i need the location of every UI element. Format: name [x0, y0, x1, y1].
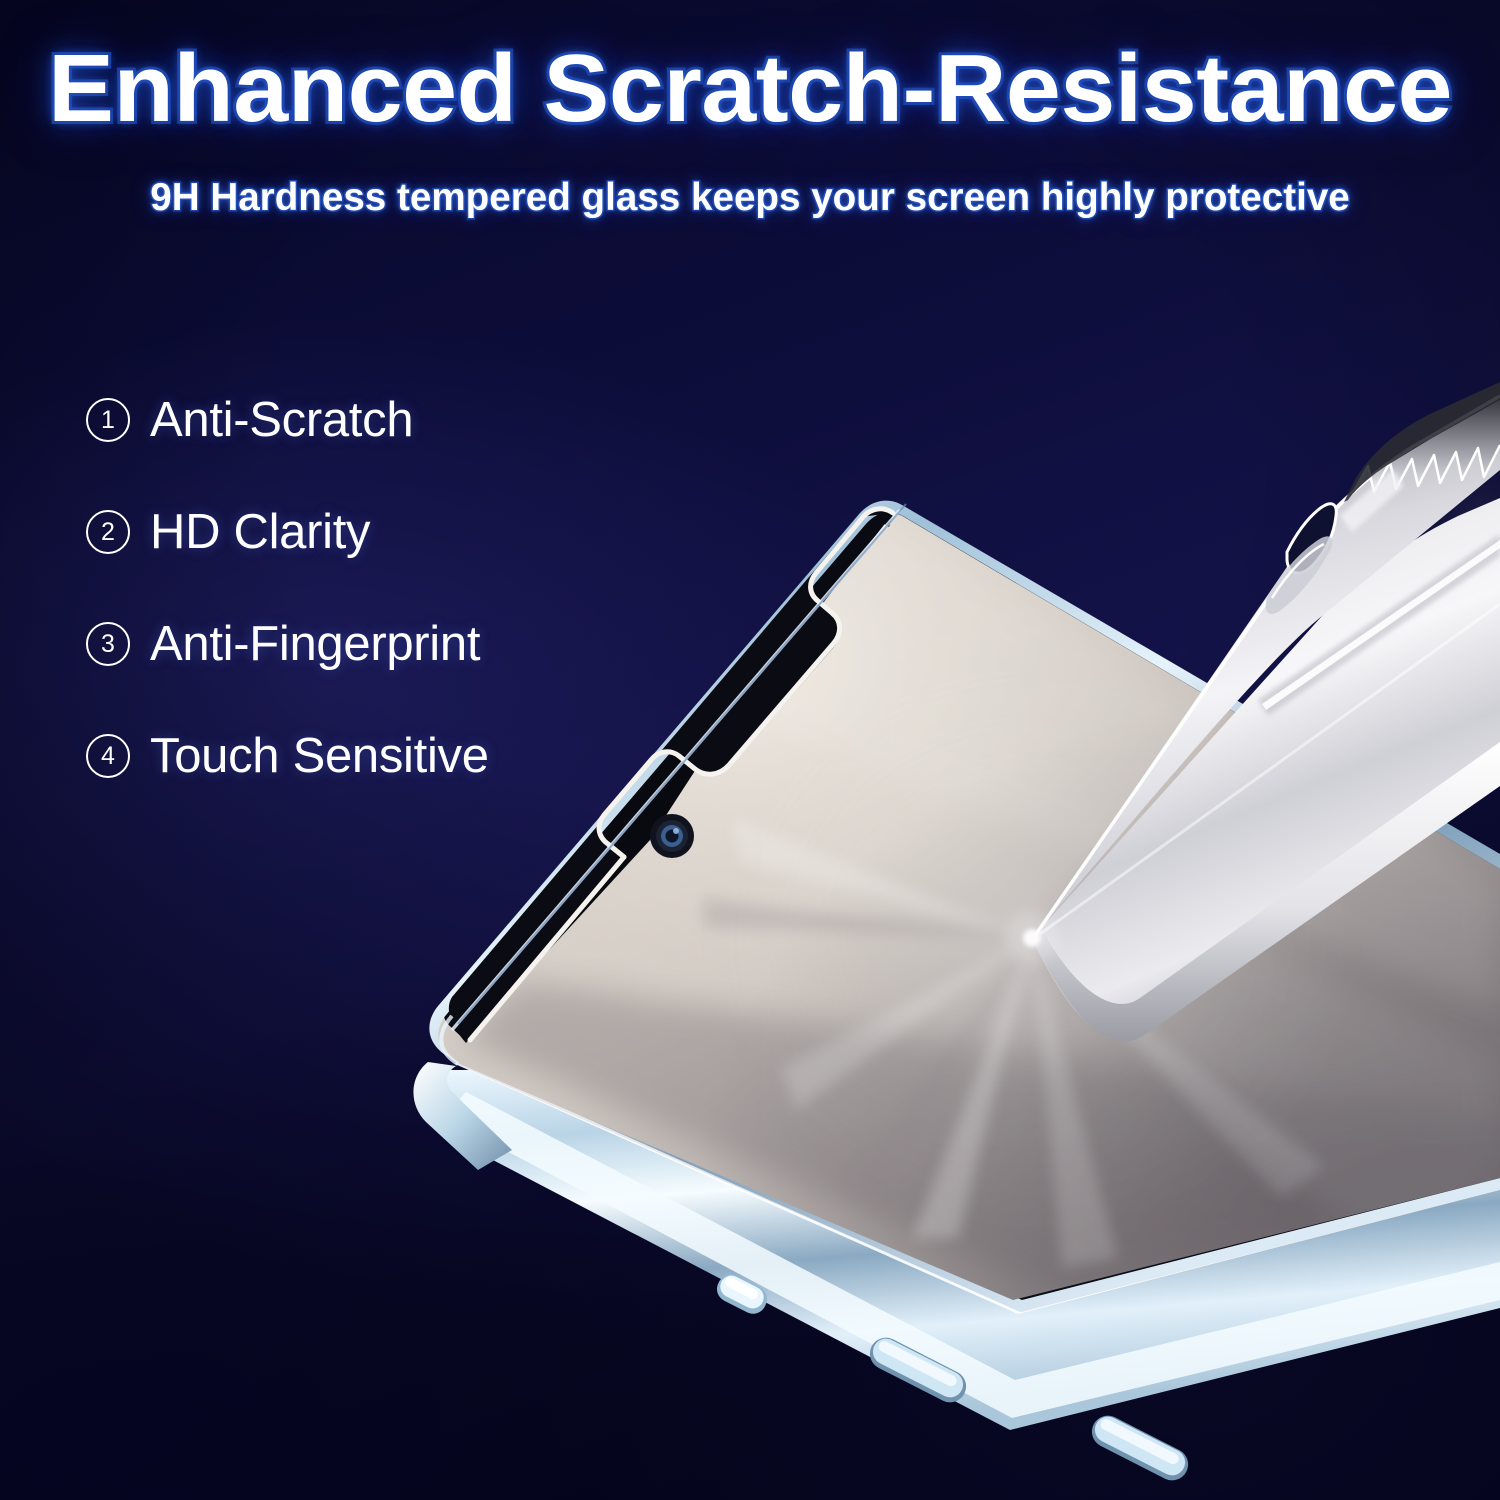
feature-number-badge: 2 — [86, 510, 130, 554]
feature-number-badge: 1 — [86, 398, 130, 442]
list-item: 3 Anti-Fingerprint — [86, 616, 489, 672]
volume-down-button — [1086, 1410, 1193, 1486]
feature-label: Anti-Scratch — [150, 392, 413, 448]
feature-number-badge: 3 — [86, 622, 130, 666]
list-item: 2 HD Clarity — [86, 504, 489, 560]
feature-label: Anti-Fingerprint — [150, 616, 480, 672]
list-item: 1 Anti-Scratch — [86, 392, 489, 448]
page-title: Enhanced Scratch-Resistance — [0, 34, 1500, 144]
feature-number-badge: 4 — [86, 734, 130, 778]
feature-label: Touch Sensitive — [150, 728, 489, 784]
feature-label: HD Clarity — [150, 504, 370, 560]
feature-list: 1 Anti-Scratch 2 HD Clarity 3 Anti-Finge… — [86, 392, 489, 784]
page-subtitle: 9H Hardness tempered glass keeps your sc… — [8, 176, 1493, 220]
front-camera — [650, 814, 694, 858]
list-item: 4 Touch Sensitive — [86, 728, 489, 784]
